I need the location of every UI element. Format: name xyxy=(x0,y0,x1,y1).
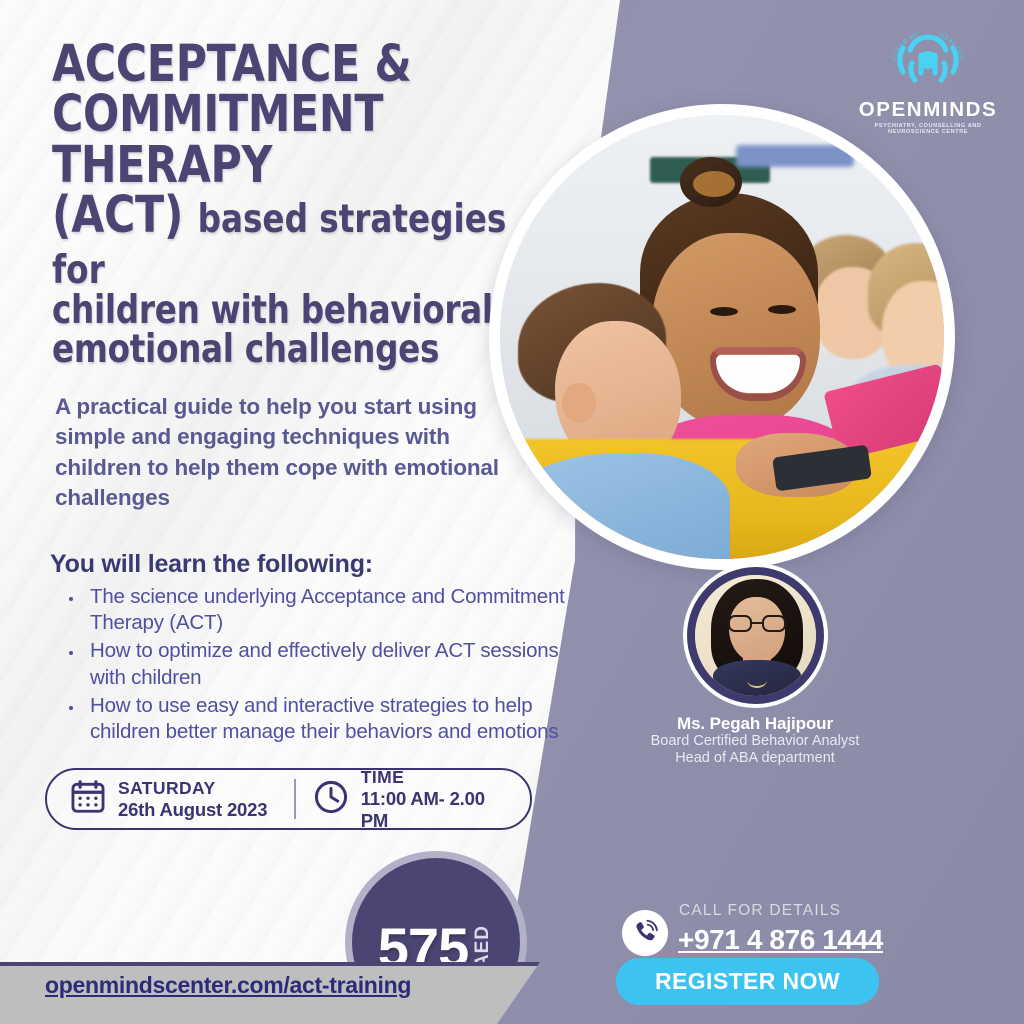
page-title: ACCEPTANCE & COMMITMENT THERAPY (ACT) ba… xyxy=(52,40,536,370)
schedule-date-label: SATURDAY xyxy=(118,778,267,799)
speaker-name: Ms. Pegah Hajipour xyxy=(610,714,900,734)
schedule-date-text: SATURDAY 26th August 2023 xyxy=(118,778,267,821)
headline-line-1: ACCEPTANCE & xyxy=(52,40,536,90)
brand-logo: CLEAR MINDS HEALTHY LIVES OPENMINDS PSYC… xyxy=(848,28,1008,135)
list-item: The science underlying Acceptance and Co… xyxy=(84,584,582,636)
phone-number[interactable]: +971 4 876 1444 xyxy=(678,924,883,956)
phone-icon xyxy=(622,910,668,956)
headline-line-5: emotional challenges xyxy=(52,331,536,370)
openminds-mark-icon: CLEAR MINDS HEALTHY LIVES xyxy=(886,28,970,100)
schedule-time-label: TIME xyxy=(361,767,514,788)
learn-list: The science underlying Acceptance and Co… xyxy=(62,584,582,747)
call-for-details-label: CALL FOR DETAILS xyxy=(679,902,841,920)
poster-canvas: ACCEPTANCE & COMMITMENT THERAPY (ACT) ba… xyxy=(0,0,1024,1024)
avatar xyxy=(695,575,816,696)
calendar-icon xyxy=(69,778,107,821)
logo-wordmark: OPENMINDS xyxy=(848,98,1008,122)
learn-heading: You will learn the following: xyxy=(50,550,373,579)
schedule-time-text: TIME 11:00 AM- 2.00 PM xyxy=(361,767,514,832)
schedule-time-value: 11:00 AM- 2.00 PM xyxy=(361,788,514,832)
headline-line-4: children with behavioral & xyxy=(52,292,536,331)
website-url-link[interactable]: openmindscenter.com/act-training xyxy=(45,972,411,999)
register-now-button[interactable]: REGISTER NOW xyxy=(616,958,879,1005)
lede-paragraph: A practical guide to help you start usin… xyxy=(55,392,515,514)
list-item: How to optimize and effectively deliver … xyxy=(84,638,582,690)
headline-act-abbrev: (ACT) xyxy=(52,186,183,245)
hero-photo-children xyxy=(500,115,944,559)
speaker-role-line-1: Board Certified Behavior Analyst xyxy=(651,733,860,749)
logo-tagline: PSYCHIATRY, COUNSELLING AND NEUROSCIENCE… xyxy=(848,123,1008,135)
headline-line-2: COMMITMENT THERAPY xyxy=(52,90,536,191)
schedule-pill: SATURDAY 26th August 2023 TIME 11:00 AM-… xyxy=(45,768,532,830)
headline-line-3: (ACT) based strategies for xyxy=(52,191,536,292)
schedule-date-value: 26th August 2023 xyxy=(118,799,267,821)
speaker-role-line-2: Head of ABA department xyxy=(675,750,835,766)
schedule-date-cell: SATURDAY 26th August 2023 xyxy=(47,778,294,821)
clock-icon xyxy=(312,778,350,821)
speaker-role: Board Certified Behavior Analyst Head of… xyxy=(610,733,900,767)
schedule-time-cell: TIME 11:00 AM- 2.00 PM xyxy=(296,767,530,832)
list-item: How to use easy and interactive strategi… xyxy=(84,693,582,745)
